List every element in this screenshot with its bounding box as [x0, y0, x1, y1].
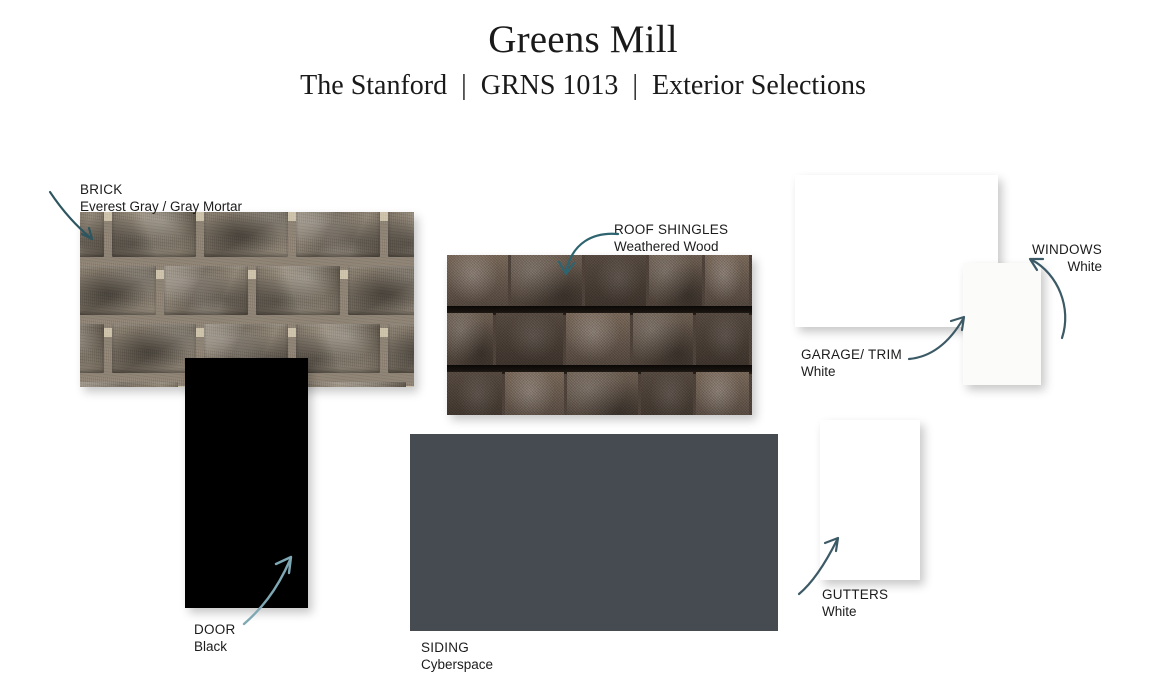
- label-door-value: Black: [194, 638, 236, 655]
- label-siding-category: SIDING: [421, 639, 493, 656]
- label-garage-trim-category: GARAGE/ TRIM: [801, 346, 902, 363]
- label-roof-shingles-value: Weathered Wood: [614, 238, 728, 255]
- label-windows-category: WINDOWS: [1032, 241, 1102, 258]
- exterior-selections-board: Greens Mill The Stanford | GRNS 1013 | E…: [0, 0, 1166, 687]
- label-windows-value: White: [1032, 258, 1102, 275]
- label-siding-value: Cyberspace: [421, 656, 493, 673]
- label-garage-trim: GARAGE/ TRIM White: [801, 346, 902, 380]
- label-gutters-category: GUTTERS: [822, 586, 888, 603]
- label-door: DOOR Black: [194, 621, 236, 655]
- label-roof-shingles-category: ROOF SHINGLES: [614, 221, 728, 238]
- swatch-windows: [963, 263, 1041, 385]
- label-brick-category: BRICK: [80, 181, 242, 198]
- label-roof-shingles: ROOF SHINGLES Weathered Wood: [614, 221, 728, 255]
- label-gutters-value: White: [822, 603, 888, 620]
- label-brick: BRICK Everest Gray / Gray Mortar: [80, 181, 242, 215]
- label-siding: SIDING Cyberspace: [421, 639, 493, 673]
- swatch-roof-shingles: [447, 255, 752, 415]
- swatch-gutters: [820, 420, 920, 580]
- label-door-category: DOOR: [194, 621, 236, 638]
- page-subtitle: The Stanford | GRNS 1013 | Exterior Sele…: [0, 68, 1166, 104]
- swatch-siding: [410, 434, 778, 631]
- label-windows: WINDOWS White: [1032, 241, 1102, 275]
- page-title: Greens Mill: [0, 16, 1166, 64]
- label-brick-value: Everest Gray / Gray Mortar: [80, 198, 242, 215]
- label-garage-trim-value: White: [801, 363, 902, 380]
- swatch-door: [185, 358, 308, 608]
- label-gutters: GUTTERS White: [822, 586, 888, 620]
